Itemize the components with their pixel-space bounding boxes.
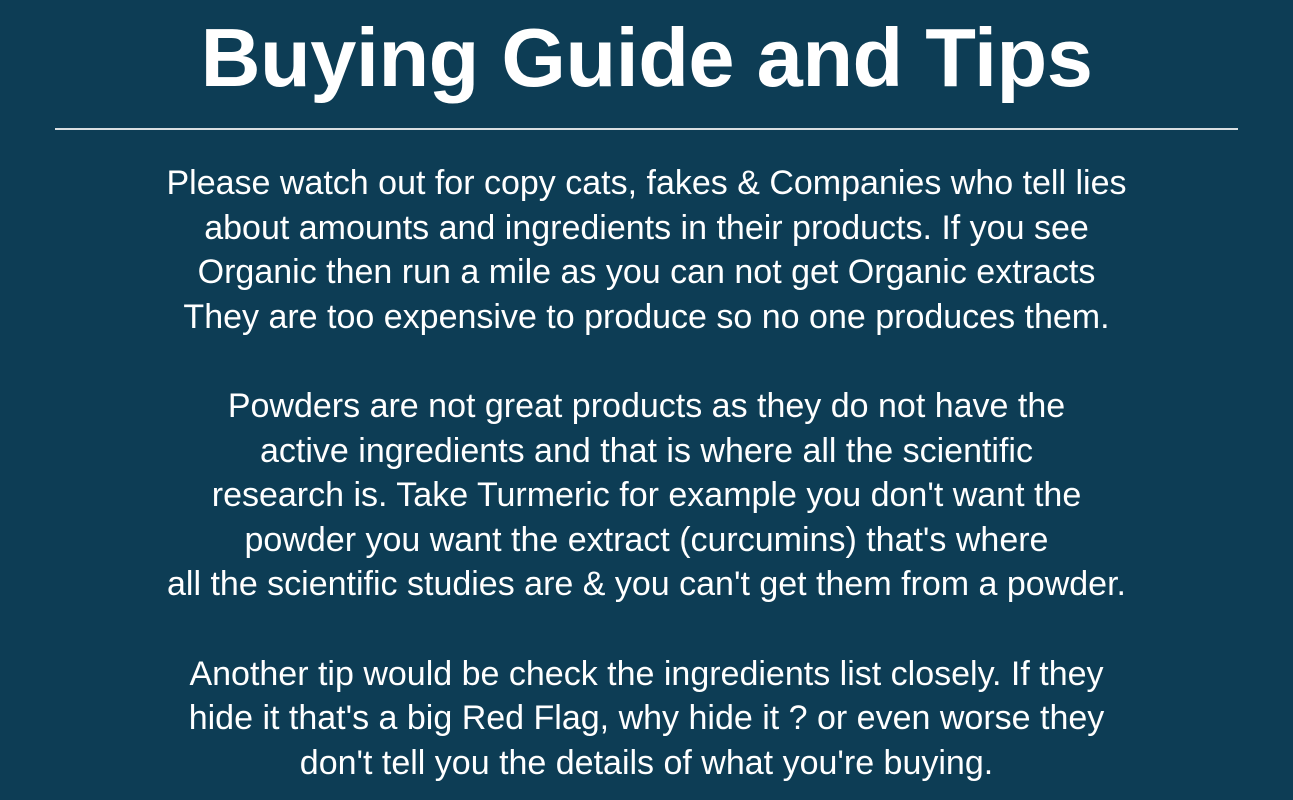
paragraph-line: powder you want the extract (curcumins) … [0,518,1293,563]
paragraph-line: Please watch out for copy cats, fakes & … [0,161,1293,206]
paragraph-powders: Powders are not great products as they d… [0,384,1293,607]
paragraph-ingredients-list: Another tip would be check the ingredien… [0,652,1293,786]
body-content: Please watch out for copy cats, fakes & … [0,161,1293,785]
paragraph-line: active ingredients and that is where all… [0,429,1293,474]
title-divider-rule [55,128,1238,130]
paragraph-spacer [0,607,1293,652]
paragraph-line: Organic then run a mile as you can not g… [0,250,1293,295]
paragraph-line: research is. Take Turmeric for example y… [0,473,1293,518]
paragraph-line: don't tell you the details of what you'r… [0,741,1293,786]
page-title: Buying Guide and Tips [0,6,1293,110]
paragraph-line: hide it that's a big Red Flag, why hide … [0,696,1293,741]
paragraph-spacer [0,339,1293,384]
paragraph-line: Another tip would be check the ingredien… [0,652,1293,697]
paragraph-line: all the scientific studies are & you can… [0,562,1293,607]
paragraph-copycats: Please watch out for copy cats, fakes & … [0,161,1293,339]
paragraph-line: about amounts and ingredients in their p… [0,206,1293,251]
paragraph-line: They are too expensive to produce so no … [0,295,1293,340]
slide-root: Buying Guide and Tips Please watch out f… [0,0,1293,800]
title-block: Buying Guide and Tips [0,6,1293,110]
paragraph-line: Powders are not great products as they d… [0,384,1293,429]
